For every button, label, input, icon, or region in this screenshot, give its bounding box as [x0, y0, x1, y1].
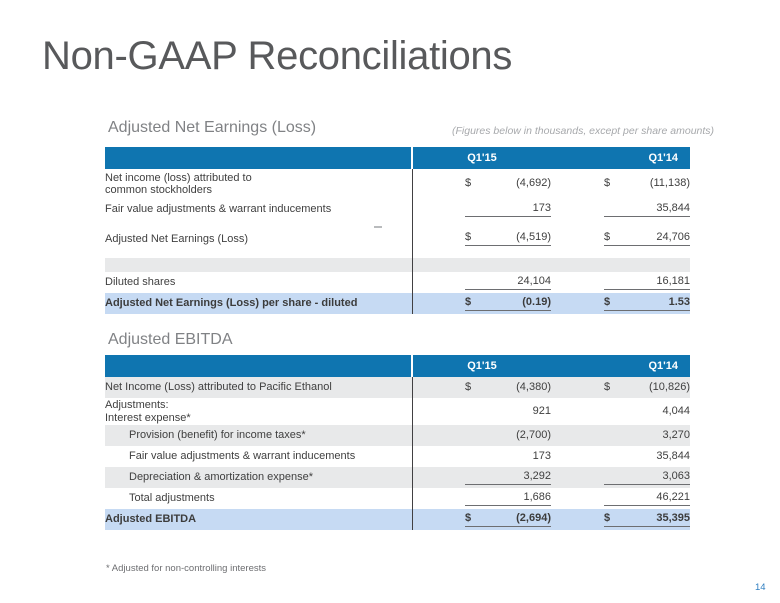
currency-symbol: $ [604, 512, 610, 524]
row-label: Adjusted EBITDA [105, 509, 412, 530]
row-value-q114: $(10,826) [551, 377, 690, 398]
column-header-q114: Q1'14 [551, 147, 690, 169]
value: 35,844 [656, 450, 690, 462]
row-value-q114: $35,395 [551, 509, 690, 530]
value: 16,181 [656, 275, 690, 287]
row-value-q115: 173 [412, 199, 551, 220]
row-value-q115: 921 [412, 398, 551, 425]
value: 3,063 [662, 470, 690, 482]
column-header-q115: Q1'15 [412, 147, 551, 169]
row-label: Provision (benefit) for income taxes* [105, 425, 412, 446]
table-row: Fair value adjustments & warrant inducem… [105, 446, 690, 467]
table-adjusted-net-earnings: Q1'15 Q1'14 Net income (loss) attributed… [105, 147, 691, 314]
currency-symbol: $ [604, 231, 610, 243]
column-header-q115: Q1'15 [412, 355, 551, 377]
page-title: Non-GAAP Reconciliations [42, 34, 512, 79]
row-value-q115: 24,104 [412, 272, 551, 293]
value: 46,221 [656, 491, 690, 503]
row-value-q115: $(4,380) [412, 377, 551, 398]
row-label: Fair value adjustments & warrant inducem… [105, 199, 412, 220]
table-row: Fair value adjustments & warrant inducem… [105, 199, 690, 220]
spacer-cell [412, 258, 551, 272]
row-label: Net Income (Loss) attributed to Pacific … [105, 377, 412, 398]
figures-note: (Figures below in thousands, except per … [452, 125, 714, 137]
currency-symbol: $ [604, 296, 610, 308]
currency-symbol: $ [604, 381, 610, 393]
table-row: Provision (benefit) for income taxes* (2… [105, 425, 690, 446]
row-value-q114: $1.53 [551, 293, 690, 314]
section-heading-adjusted-net-earnings: Adjusted Net Earnings (Loss) [108, 119, 316, 137]
value: (2,700) [516, 429, 551, 441]
value: 24,706 [656, 231, 690, 243]
row-label: Adjustments: Interest expense* [105, 398, 412, 425]
row-label: Total adjustments [105, 488, 412, 509]
table-header-row: Q1'15 Q1'14 [105, 355, 690, 377]
table-header-row: Q1'15 Q1'14 [105, 147, 690, 169]
value: (10,826) [649, 381, 690, 393]
table-row: Depreciation & amortization expense* 3,2… [105, 467, 690, 488]
row-value-q115: $(4,519) [412, 220, 551, 258]
table-spacer-row [105, 258, 690, 272]
row-value-q114: 46,221 [551, 488, 690, 509]
table-row: Total adjustments 1,686 46,221 [105, 488, 690, 509]
column-header-q114: Q1'14 [551, 355, 690, 377]
row-value-q115: $(2,694) [412, 509, 551, 530]
row-value-q114: 3,063 [551, 467, 690, 488]
dash-icon [374, 226, 382, 228]
row-label: Adjusted Net Earnings (Loss) per share -… [105, 293, 412, 314]
currency-symbol: $ [465, 177, 471, 189]
value: 1.53 [669, 296, 690, 308]
table-row: Net Income (Loss) attributed to Pacific … [105, 377, 690, 398]
table-row: Net income (loss) attributed to common s… [105, 169, 690, 199]
footnote: * Adjusted for non-controlling interests [106, 563, 266, 574]
table-adjusted-ebitda: Q1'15 Q1'14 Net Income (Loss) attributed… [105, 355, 691, 530]
currency-symbol: $ [604, 177, 610, 189]
value: (4,692) [516, 177, 551, 189]
row-value-q114: 35,844 [551, 199, 690, 220]
spacer-cell [105, 258, 412, 272]
spacer-cell [551, 258, 690, 272]
value: 24,104 [517, 275, 551, 287]
value: 173 [533, 202, 551, 214]
value: (2,694) [516, 512, 551, 524]
column-header-label [105, 147, 412, 169]
value: 35,844 [656, 202, 690, 214]
row-value-q115: (2,700) [412, 425, 551, 446]
value: (0.19) [522, 296, 551, 308]
section-heading-adjusted-ebitda: Adjusted EBITDA [108, 331, 233, 349]
table-total-row: Adjusted EBITDA $(2,694) $35,395 [105, 509, 690, 530]
table-row: Adjustments: Interest expense* 921 4,044 [105, 398, 690, 425]
value: 35,395 [656, 512, 690, 524]
table-total-row: Adjusted Net Earnings (Loss) per share -… [105, 293, 690, 314]
row-label: Diluted shares [105, 272, 412, 293]
row-label: Depreciation & amortization expense* [105, 467, 412, 488]
column-header-label [105, 355, 412, 377]
row-value-q114: 16,181 [551, 272, 690, 293]
value: (11,138) [650, 177, 690, 189]
value: (4,519) [516, 231, 551, 243]
table-row: Diluted shares 24,104 16,181 [105, 272, 690, 293]
row-label: Fair value adjustments & warrant inducem… [105, 446, 412, 467]
value: 1,686 [523, 491, 551, 503]
currency-symbol: $ [465, 296, 471, 308]
row-value-q115: 1,686 [412, 488, 551, 509]
value: 921 [533, 405, 551, 417]
row-value-q115: $(4,692) [412, 169, 551, 199]
value: 4,044 [662, 405, 690, 417]
currency-symbol: $ [465, 381, 471, 393]
page-number: 14 [755, 582, 766, 593]
row-value-q114: $24,706 [551, 220, 690, 258]
row-value-q114: $(11,138) [551, 169, 690, 199]
row-value-q115: 3,292 [412, 467, 551, 488]
row-label-text: Adjusted Net Earnings (Loss) [105, 233, 248, 245]
value: (4,380) [516, 381, 551, 393]
row-value-q114: 35,844 [551, 446, 690, 467]
value: 173 [533, 450, 551, 462]
table-row: Adjusted Net Earnings (Loss) $(4,519) $2… [105, 220, 690, 258]
row-label: Net income (loss) attributed to common s… [105, 169, 412, 199]
currency-symbol: $ [465, 231, 471, 243]
row-value-q115: $(0.19) [412, 293, 551, 314]
row-value-q115: 173 [412, 446, 551, 467]
value: 3,270 [662, 429, 690, 441]
row-label: Adjusted Net Earnings (Loss) [105, 220, 412, 258]
currency-symbol: $ [465, 512, 471, 524]
row-value-q114: 4,044 [551, 398, 690, 425]
row-value-q114: 3,270 [551, 425, 690, 446]
value: 3,292 [523, 470, 551, 482]
